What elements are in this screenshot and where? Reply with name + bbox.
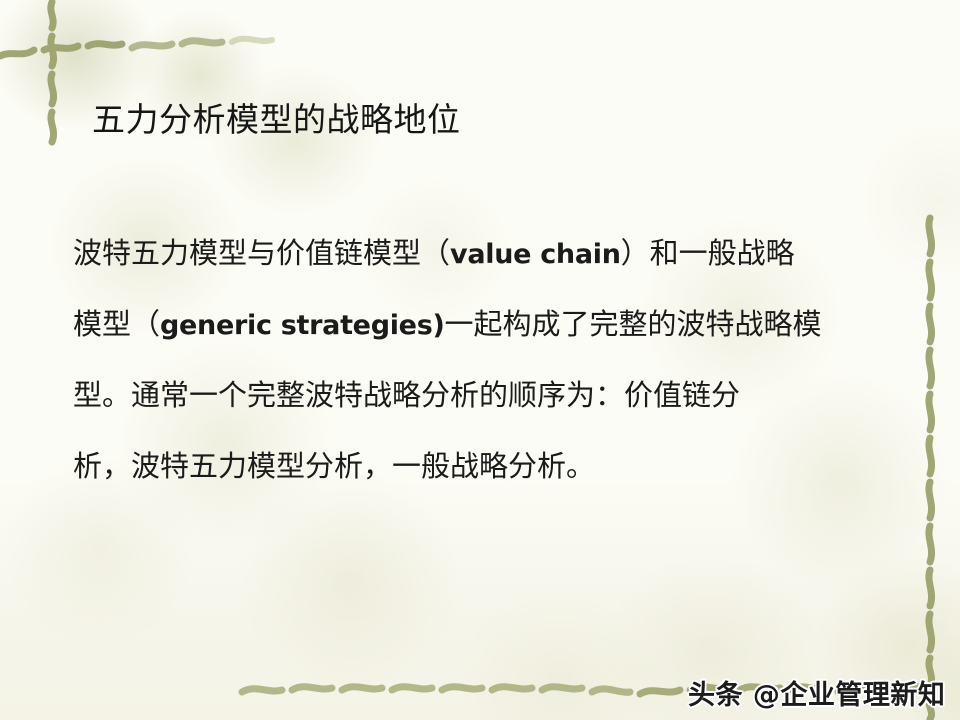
body-segment-cjk: 型。通常一个完整波特战略分析的顺序为：价值链分 — [73, 378, 740, 412]
body-segment-cjk: ）和一般战略 — [621, 236, 795, 270]
body-segment-latin: value chain — [450, 239, 621, 270]
body-line: 型。通常一个完整波特战略分析的顺序为：价值链分 — [73, 370, 903, 441]
body-line: 析，波特五力模型分析，一般战略分析。 — [73, 441, 903, 512]
body-segment-cjk: 模型（ — [73, 307, 160, 341]
body-segment-cjk: 一起构成了完整的波特战略模 — [445, 307, 822, 341]
body-segment-latin: generic strategies) — [160, 310, 444, 341]
slide-canvas: 五力分析模型的战略地位 波特五力模型与价值链模型（value chain）和一般… — [0, 0, 960, 720]
body-segment-cjk: 析，波特五力模型分析，一般战略分析。 — [73, 449, 595, 483]
body-segment-cjk: 波特五力模型与价值链模型（ — [73, 236, 450, 270]
page-title: 五力分析模型的战略地位 — [92, 98, 461, 142]
body-line: 波特五力模型与价值链模型（value chain）和一般战略 — [73, 228, 903, 299]
watermark-label: 头条 @企业管理新知 — [688, 673, 945, 712]
body-paragraph: 波特五力模型与价值链模型（value chain）和一般战略 模型（generi… — [73, 228, 903, 512]
body-line: 模型（generic strategies)一起构成了完整的波特战略模 — [73, 299, 903, 370]
